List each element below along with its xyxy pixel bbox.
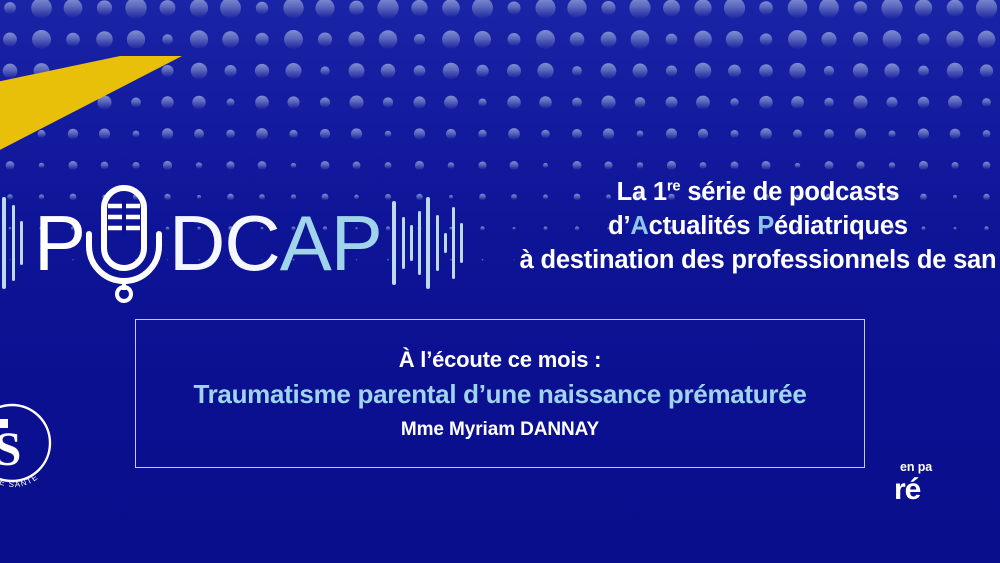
headline-line-1: La 1re série de podcasts: [478, 176, 1000, 210]
headline-ordinal-suffix: re: [667, 179, 681, 195]
podcast-poster: SON 3 P: [0, 0, 1000, 563]
seal-letter: S: [0, 423, 21, 476]
wordmark-p: P: [34, 204, 85, 282]
episode-lead: À l’écoute ce mois :: [399, 347, 602, 373]
episode-panel: À l’écoute ce mois : Traumatisme parenta…: [135, 319, 865, 468]
partner-prefix: en pa: [900, 460, 1000, 474]
headline-block: La 1re série de podcasts d’Actualités Pé…: [478, 176, 1000, 278]
headline-line1-a: La 1: [617, 178, 667, 206]
podcap-wordmark: P DC AP: [34, 182, 382, 304]
headline-line-3: à destination des professionnels de san: [478, 244, 1000, 278]
audio-waveform-right-icon: [390, 195, 468, 291]
headline-line-2: d’Actualités Pédiatriques: [478, 210, 1000, 244]
season-ribbon: SON 3: [0, 0, 182, 188]
headline-accent-a: A: [630, 212, 648, 240]
wordmark-ap: AP: [280, 204, 382, 282]
headline-line2-a: d’: [608, 212, 630, 240]
podcap-logo: P DC AP: [0, 183, 468, 303]
episode-speaker: Mme Myriam DANNAY: [401, 419, 599, 441]
episode-title: Traumatisme parental d’une naissance pré…: [193, 379, 806, 410]
wordmark-dc: DC: [169, 204, 280, 282]
headline-accent-p: P: [757, 212, 774, 240]
audio-waveform-left-icon: [0, 195, 34, 291]
headline-line1-b: série de podcasts: [680, 178, 899, 206]
partner-block: en pa ré: [894, 460, 1000, 505]
partner-name: ré: [894, 475, 1000, 505]
headline-line2-b: ctualités: [649, 212, 758, 240]
microphone-icon: [81, 182, 167, 304]
organisation-seal-logo: S DE SANTÉ: [0, 393, 62, 493]
headline-line2-c: édiatriques: [774, 212, 908, 240]
